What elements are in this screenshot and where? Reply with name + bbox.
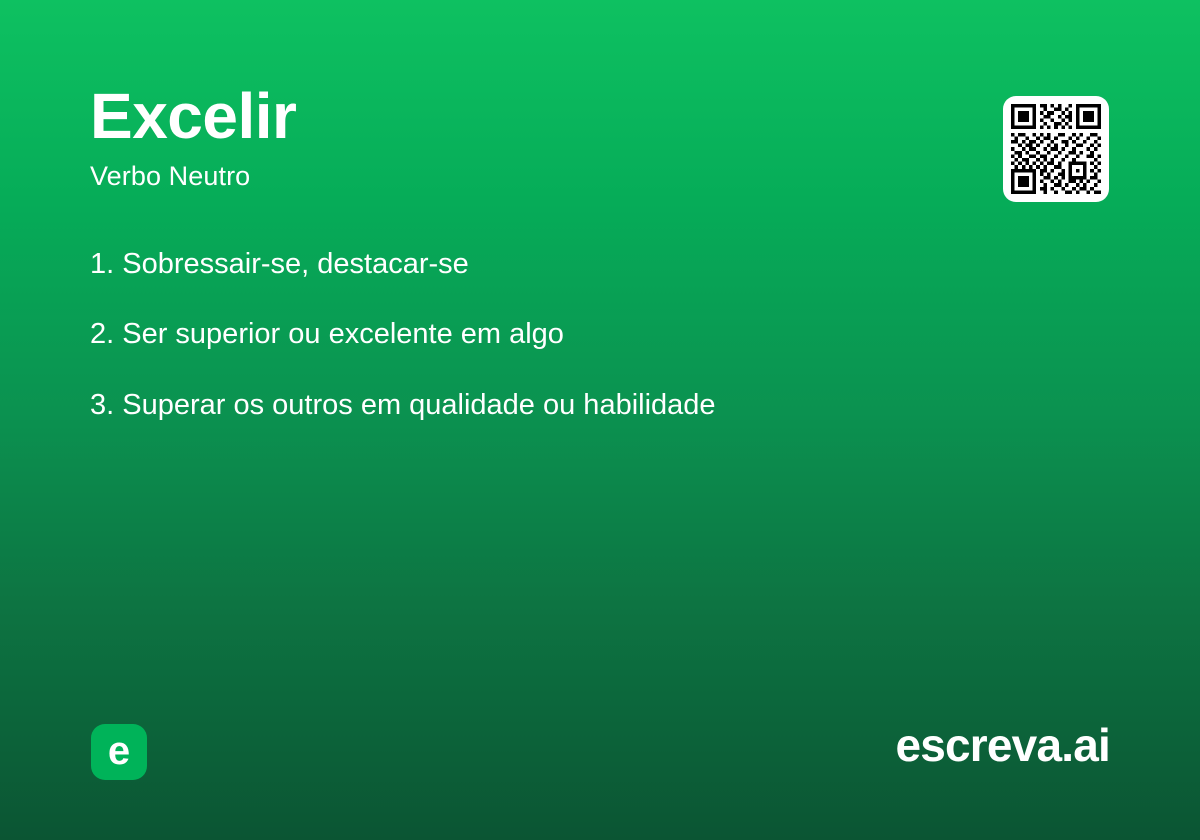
list-item: 1. Sobressair-se, destacar-se: [90, 248, 1050, 281]
dictionary-card: Excelir Verbo Neutro 1. Sobressair-se, d…: [0, 0, 1200, 840]
definition-list: 1. Sobressair-se, destacar-se 2. Ser sup…: [90, 248, 1050, 422]
page-title: Excelir: [90, 84, 930, 148]
logo-letter: e: [108, 731, 130, 771]
word-class-label: Verbo Neutro: [90, 148, 930, 192]
entry-header: Excelir Verbo Neutro: [90, 84, 930, 192]
brand-wordmark: escreva.ai: [895, 722, 1110, 768]
list-item: 2. Ser superior ou excelente em algo: [90, 318, 1050, 351]
list-item: 3. Superar os outros em qualidade ou hab…: [90, 389, 1050, 422]
escreva-logo-icon[interactable]: e: [91, 724, 147, 780]
qr-code-icon[interactable]: [1003, 96, 1109, 202]
